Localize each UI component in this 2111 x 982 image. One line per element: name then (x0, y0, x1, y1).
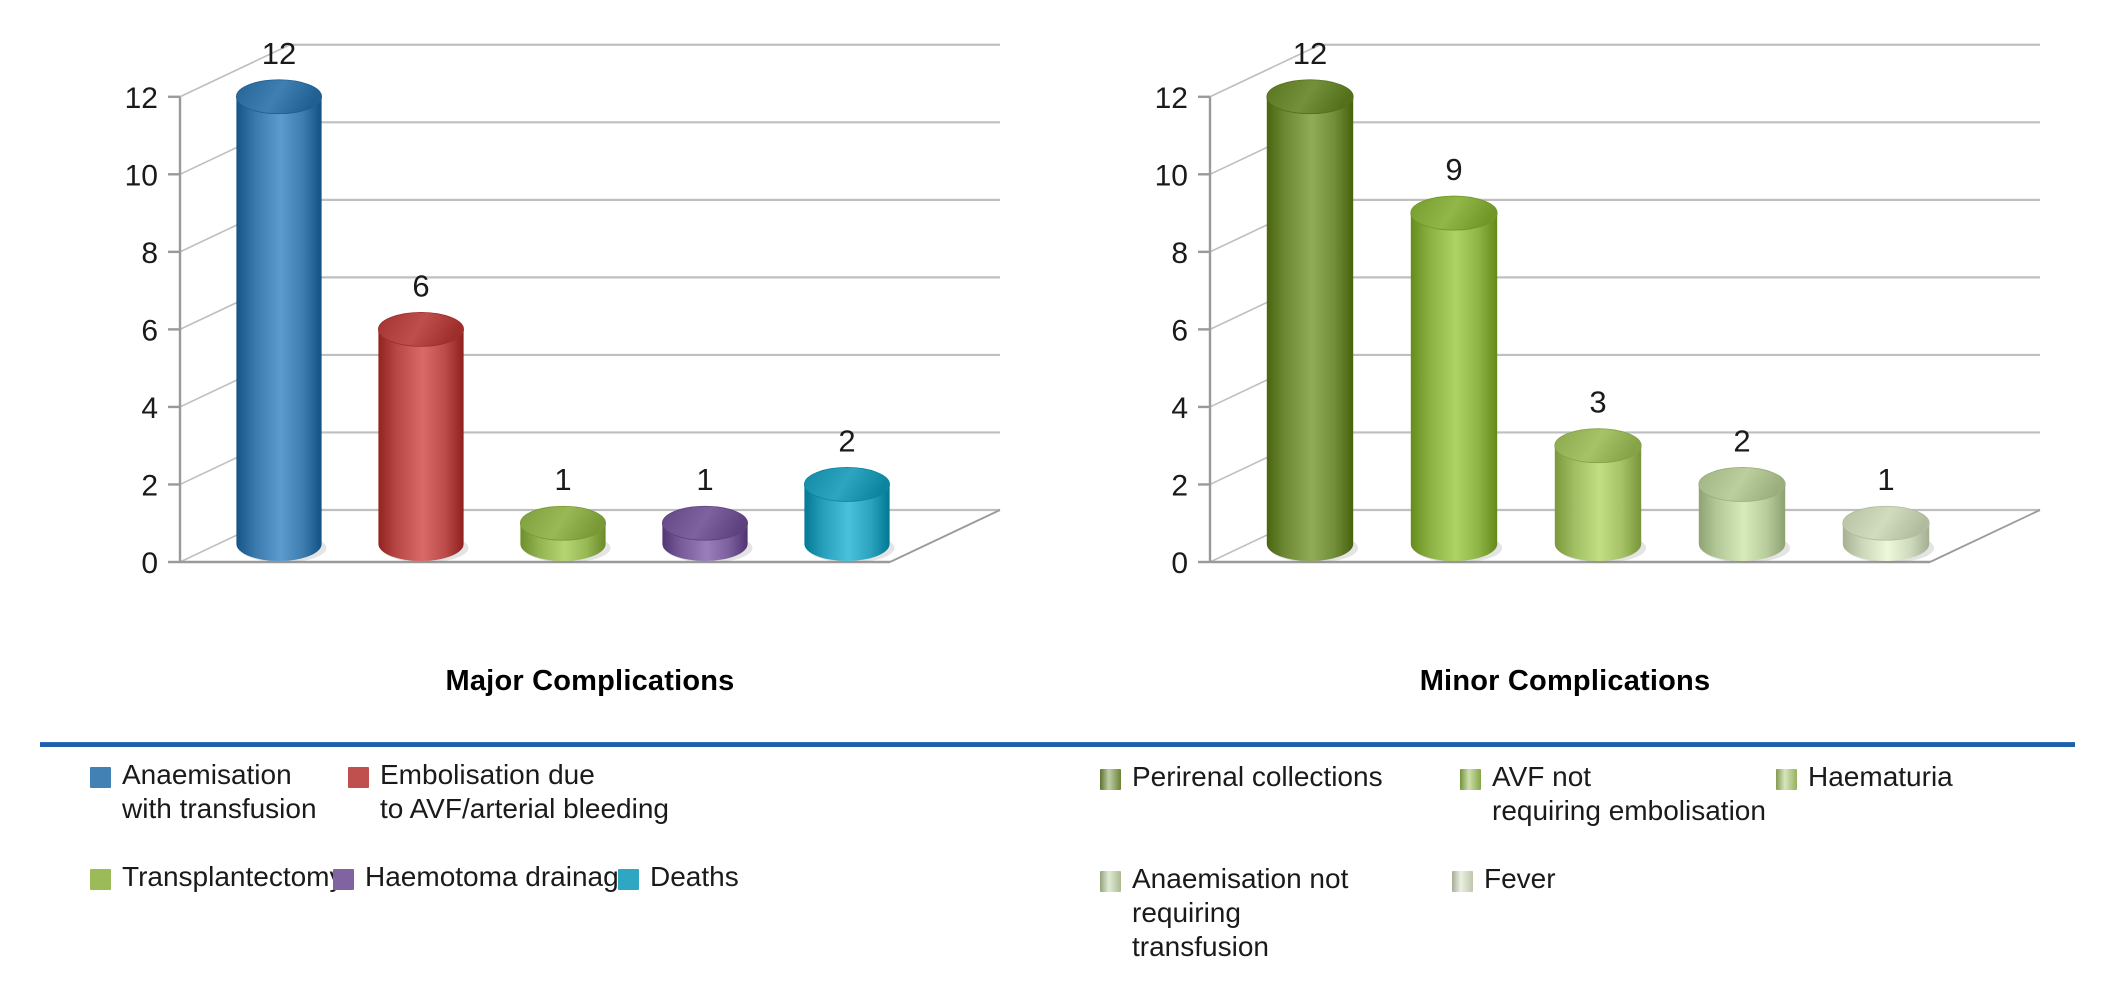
svg-text:6: 6 (141, 314, 158, 347)
svg-text:2: 2 (1733, 423, 1750, 458)
svg-text:2: 2 (141, 469, 158, 502)
svg-text:0: 0 (1171, 547, 1188, 580)
legend-item: Fever (1452, 862, 1652, 896)
svg-text:8: 8 (141, 237, 158, 270)
svg-text:2: 2 (1171, 469, 1188, 502)
axis-title-minor: Minor Complications (1060, 665, 2111, 698)
legend-swatch (1452, 871, 1473, 892)
legend-swatch (90, 869, 111, 890)
legend-swatch (1100, 769, 1121, 790)
chart-minor-complications: 024681012129321 Minor Complications (1060, 0, 2070, 720)
legend-item: Haemotoma drainage (333, 860, 634, 894)
chart-canvas-major: 024681012126112 (30, 0, 1030, 640)
legend-item: Anaemisation with transfusion (90, 758, 360, 826)
svg-text:9: 9 (1445, 152, 1462, 187)
legend-item-label: Haematuria (1808, 760, 1953, 794)
svg-text:8: 8 (1171, 237, 1188, 270)
legends: Anaemisation with transfusion Embolisati… (0, 756, 2111, 982)
legend-swatch (90, 767, 111, 788)
legend-item: Embolisation due to AVF/arterial bleedin… (348, 758, 678, 826)
legend-item-label: AVF not requiring embolisation (1492, 760, 1766, 828)
svg-text:12: 12 (1293, 36, 1327, 71)
legend-item-label: Transplantectomy (122, 860, 344, 894)
svg-text:12: 12 (125, 82, 158, 115)
svg-text:3: 3 (1589, 385, 1606, 420)
legend-item-label: Perirenal collections (1132, 760, 1383, 794)
svg-text:1: 1 (554, 462, 571, 497)
legend-item-label: Anaemisation with transfusion (122, 758, 317, 826)
svg-text:6: 6 (1171, 314, 1188, 347)
section-divider (40, 742, 2075, 747)
svg-text:2: 2 (838, 423, 855, 458)
svg-text:0: 0 (141, 547, 158, 580)
svg-text:4: 4 (1171, 392, 1188, 425)
legend-item: Perirenal collections (1100, 760, 1460, 794)
legend-item: Transplantectomy (90, 860, 344, 894)
svg-text:10: 10 (1155, 159, 1188, 192)
svg-text:4: 4 (141, 392, 158, 425)
plot-area-minor: 024681012129321 (1060, 0, 2070, 640)
legend-swatch (618, 869, 639, 890)
svg-text:10: 10 (125, 159, 158, 192)
svg-text:6: 6 (412, 268, 429, 303)
legend-swatch (1776, 769, 1797, 790)
legend-swatch (333, 869, 354, 890)
legend-item-label: Haemotoma drainage (365, 860, 634, 894)
svg-text:12: 12 (262, 36, 296, 71)
chart-panels: 024681012126112 Major Complications 0246… (0, 0, 2111, 720)
svg-text:1: 1 (696, 462, 713, 497)
legend-item: Anaemisation not requiring transfusion (1100, 862, 1460, 964)
svg-text:12: 12 (1155, 82, 1188, 115)
axis-title-major: Major Complications (30, 665, 1090, 698)
chart-canvas-minor: 024681012129321 (1060, 0, 2070, 640)
legend-item-label: Anaemisation not requiring transfusion (1132, 862, 1460, 964)
plot-area-major: 024681012126112 (30, 0, 1030, 640)
svg-text:1: 1 (1877, 462, 1894, 497)
legend-item: Haematuria (1776, 760, 2076, 794)
chart-major-complications: 024681012126112 Major Complications (30, 0, 1030, 720)
legend-item: AVF not requiring embolisation (1460, 760, 1810, 828)
legend-item-label: Fever (1484, 862, 1556, 896)
legend-item: Deaths (618, 860, 739, 894)
legend-item-label: Embolisation due to AVF/arterial bleedin… (380, 758, 669, 826)
legend-swatch (348, 767, 369, 788)
figure-root: 024681012126112 Major Complications 0246… (0, 0, 2111, 982)
legend-swatch (1100, 871, 1121, 892)
legend-swatch (1460, 769, 1481, 790)
legend-item-label: Deaths (650, 860, 739, 894)
